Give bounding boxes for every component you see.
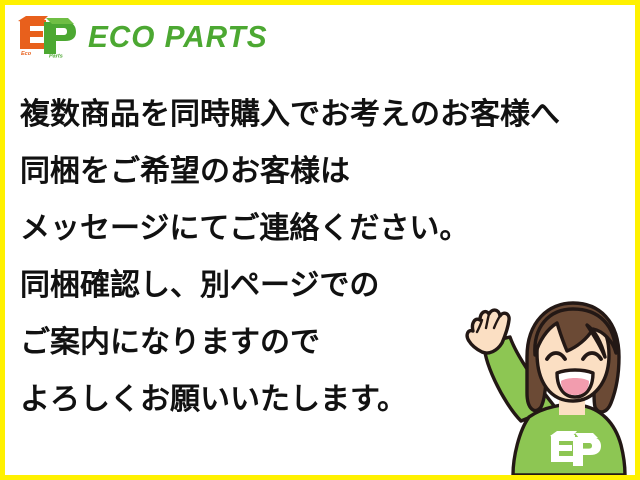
svg-text:Eco: Eco — [21, 51, 32, 57]
notice-line-3: メッセージにてご連絡ください。 — [20, 200, 620, 257]
notice-line-2: 同梱をご希望のお客様は — [20, 143, 620, 200]
brand-wordmark: ECO PARTS — [88, 21, 268, 52]
notice-line-1: 複数商品を同時購入でお考えのお客様へ — [20, 86, 620, 143]
ep-monogram-logo-icon: Eco Parts — [16, 14, 78, 58]
brand-header: Eco Parts ECO PARTS — [16, 12, 275, 60]
promo-banner: Eco Parts ECO PARTS 複数商品を同時購入でお考えのお客様へ 同… — [0, 0, 640, 480]
svg-text:Parts: Parts — [49, 54, 63, 59]
waving-staff-character-illustration-icon — [455, 295, 635, 475]
